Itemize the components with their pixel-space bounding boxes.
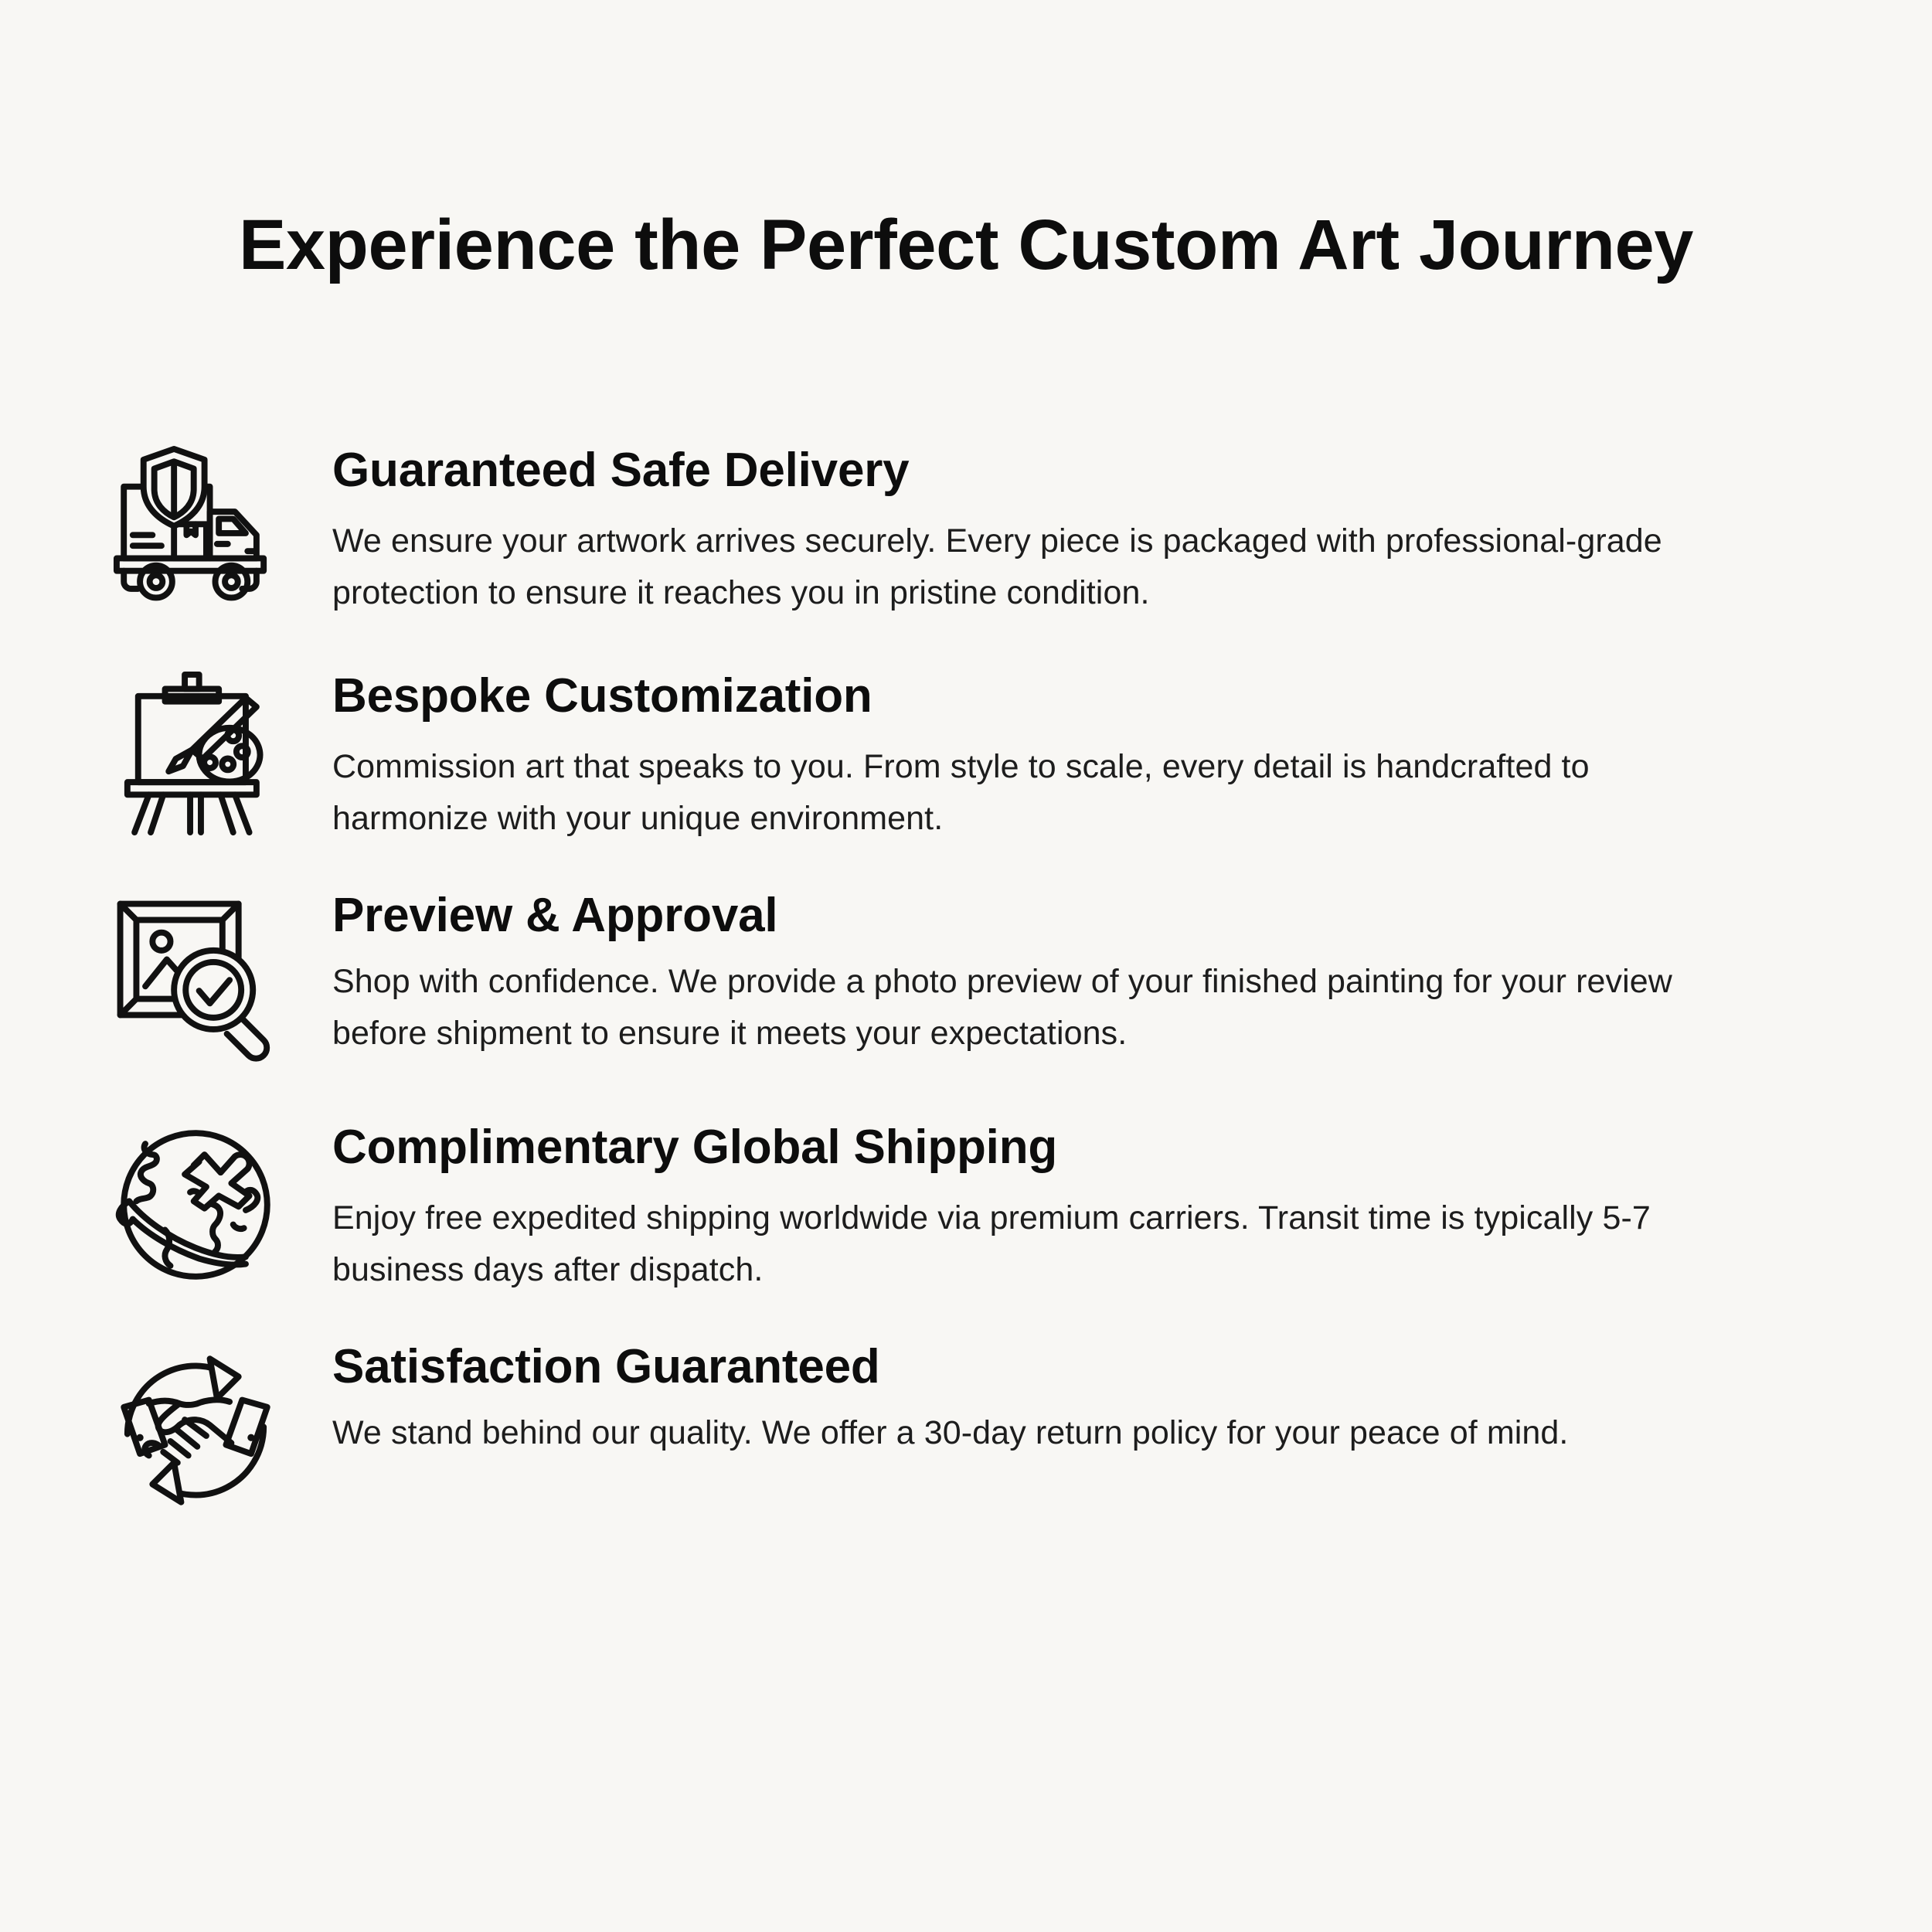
feature-description: We stand behind our quality. We offer a … [332,1407,1737,1459]
feature-heading: Bespoke Customization [332,669,1737,723]
feature-item-guaranteed-safe-delivery: Guaranteed Safe Delivery We ensure your … [0,423,1932,632]
feature-heading: Satisfaction Guaranteed [332,1340,1737,1393]
feature-description: Enjoy free expedited shipping worldwide … [332,1192,1731,1295]
feature-item-complimentary-global-shipping: Complimentary Global Shipping Enjoy free… [0,1100,1932,1309]
feature-text: Preview & Approval Shop with confidence.… [300,875,1737,1060]
page-title: Experience the Perfect Custom Art Journe… [0,207,1932,284]
feature-text: Guaranteed Safe Delivery We ensure your … [300,423,1737,619]
globe-airplane-icon [91,1100,300,1309]
delivery-truck-shield-icon [91,423,300,632]
feature-text: Bespoke Customization Commission art tha… [300,649,1737,845]
feature-item-bespoke-customization: Bespoke Customization Commission art tha… [0,649,1932,858]
feature-heading: Complimentary Global Shipping [332,1121,1737,1174]
feature-item-satisfaction-guaranteed: Satisfaction Guaranteed We stand behind … [0,1326,1932,1535]
feature-text: Complimentary Global Shipping Enjoy free… [300,1100,1737,1296]
feature-heading: Guaranteed Safe Delivery [332,444,1737,497]
feature-text: Satisfaction Guaranteed We stand behind … [300,1326,1737,1459]
custom-art-journey-page: Experience the Perfect Custom Art Journe… [0,0,1932,1932]
feature-heading: Preview & Approval [332,889,1737,942]
feature-list: Guaranteed Safe Delivery We ensure your … [0,423,1932,1552]
feature-item-preview-approval: Preview & Approval Shop with confidence.… [0,875,1932,1083]
feature-description: Shop with confidence. We provide a photo… [332,956,1723,1059]
feature-description: Commission art that speaks to you. From … [332,741,1600,844]
framed-picture-magnifier-check-icon [91,875,300,1083]
feature-description: We ensure your artwork arrives securely.… [332,515,1716,618]
easel-palette-brush-icon [91,649,300,858]
handshake-refresh-arrows-icon [91,1326,300,1535]
